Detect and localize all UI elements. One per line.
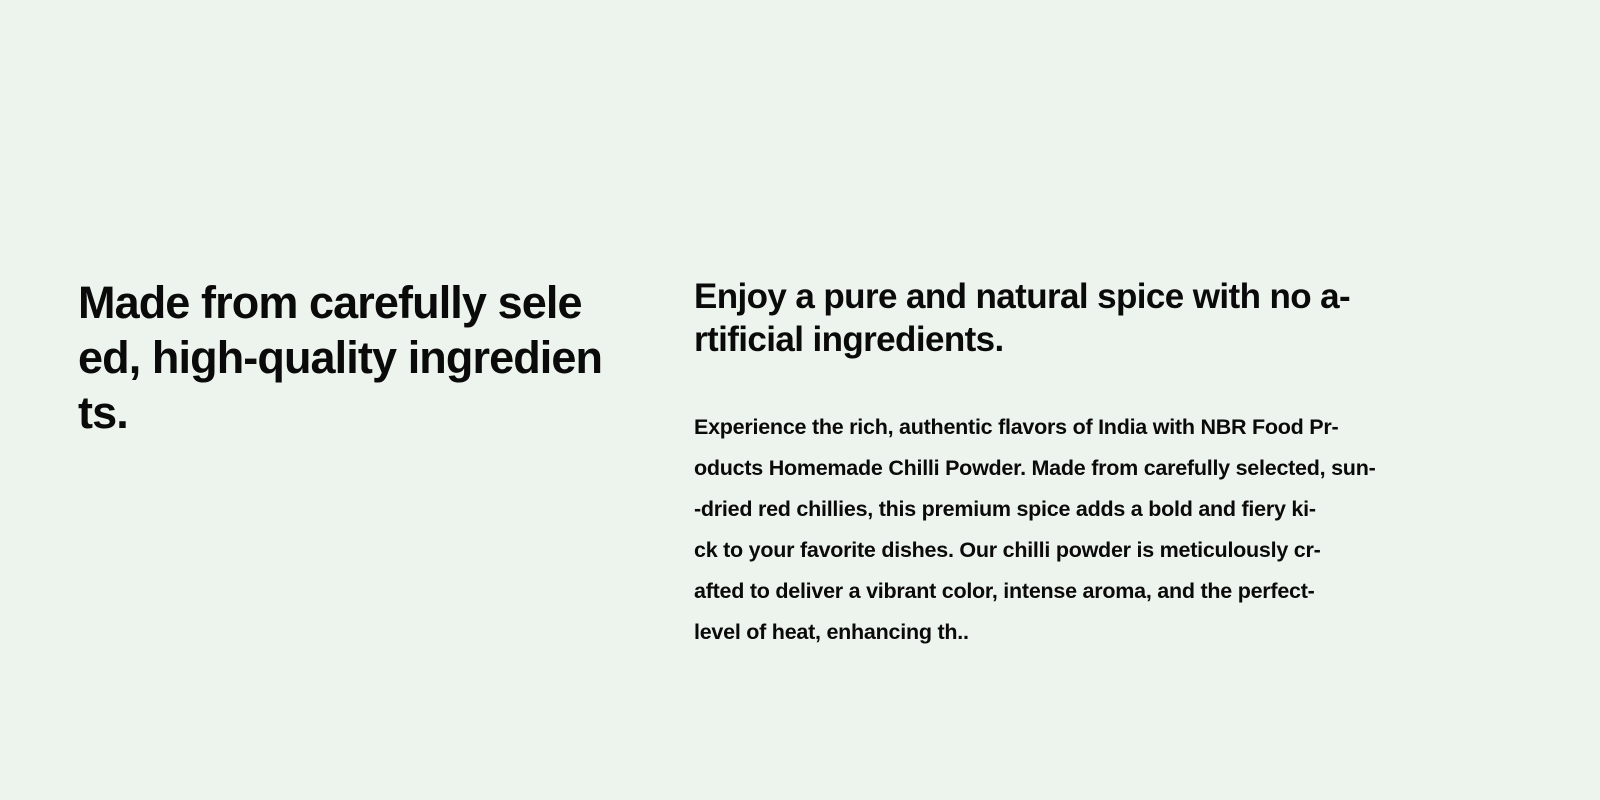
body-line: Experience the rich, authentic flavors o… [694, 407, 1450, 448]
headline-line: rtificial ingredients. [694, 318, 1450, 361]
secondary-headline: Enjoy a pure and natural spice with no a… [694, 275, 1450, 361]
headline-line: Enjoy a pure and natural spice with no a… [694, 275, 1450, 318]
body-line: ck to your favorite dishes. Our chilli p… [694, 530, 1450, 571]
two-column-content: Made from carefully sele ed, high-qualit… [0, 275, 1600, 653]
primary-headline: Made from carefully sele ed, high-qualit… [78, 275, 616, 440]
right-column: Enjoy a pure and natural spice with no a… [616, 275, 1600, 653]
body-paragraph: Experience the rich, authentic flavors o… [694, 407, 1450, 653]
body-line: afted to deliver a vibrant color, intens… [694, 571, 1450, 612]
page-root: Made from carefully sele ed, high-qualit… [0, 0, 1600, 800]
body-line: -dried red chillies, this premium spice … [694, 489, 1450, 530]
headline-line: ts. [78, 385, 616, 440]
headline-line: ed, high-quality ingredien [78, 330, 616, 385]
body-line: level of heat, enhancing th.. [694, 612, 1450, 653]
body-line: oducts Homemade Chilli Powder. Made from… [694, 448, 1450, 489]
headline-line: Made from carefully sele [78, 275, 616, 330]
left-column: Made from carefully sele ed, high-qualit… [0, 275, 616, 440]
